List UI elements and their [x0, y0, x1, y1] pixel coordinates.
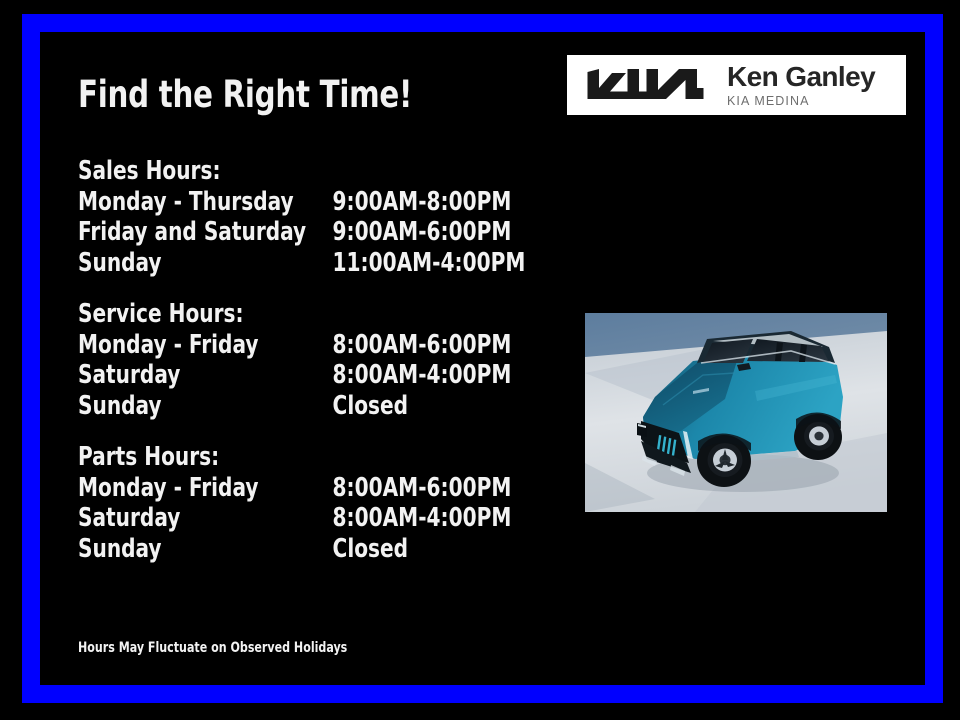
- hours-row: Monday - Friday 8:00AM-6:00PM: [78, 473, 482, 504]
- hours-row-time: 8:00AM-6:00PM: [333, 473, 512, 504]
- hours-row-day: Monday - Friday: [78, 330, 333, 361]
- hours-row-day: Monday - Friday: [78, 473, 333, 504]
- hours-row-time: Closed: [333, 534, 409, 565]
- holiday-disclaimer: Hours May Fluctuate on Observed Holidays: [78, 641, 347, 655]
- hours-row: Monday - Friday 8:00AM-6:00PM: [78, 330, 482, 361]
- hours-row-time: 9:00AM-8:00PM: [333, 187, 512, 218]
- hours-row: Saturday 8:00AM-4:00PM: [78, 503, 482, 534]
- kia-logo-icon: [581, 68, 705, 102]
- hours-row-day: Friday and Saturday: [78, 217, 333, 248]
- hours-row-time: 8:00AM-4:00PM: [333, 360, 512, 391]
- hours-row-day: Saturday: [78, 360, 333, 391]
- kia-ev9-suv-photo: [585, 313, 887, 512]
- hours-section-parts: Parts Hours: Monday - Friday 8:00AM-6:00…: [78, 442, 548, 564]
- dealer-name-block: Ken Ganley KIA MEDINA: [727, 63, 875, 107]
- section-heading: Sales Hours:: [78, 156, 482, 187]
- section-heading: Service Hours:: [78, 299, 482, 330]
- hours-section-sales: Sales Hours: Monday - Thursday 9:00AM-8:…: [78, 156, 548, 278]
- hours-row-time: 11:00AM-4:00PM: [333, 248, 526, 279]
- dealer-name: Ken Ganley: [727, 63, 875, 92]
- page-title: Find the Right Time!: [78, 76, 412, 113]
- hours-row-time: 8:00AM-6:00PM: [333, 330, 512, 361]
- section-heading: Parts Hours:: [78, 442, 482, 473]
- hours-listing: Sales Hours: Monday - Thursday 9:00AM-8:…: [78, 156, 548, 564]
- hours-row-day: Sunday: [78, 248, 333, 279]
- hours-row-time: 8:00AM-4:00PM: [333, 503, 512, 534]
- dealer-subtitle: KIA MEDINA: [727, 95, 875, 108]
- hours-section-service: Service Hours: Monday - Friday 8:00AM-6:…: [78, 299, 548, 421]
- hours-row: Saturday 8:00AM-4:00PM: [78, 360, 482, 391]
- dealer-logo-banner: Ken Ganley KIA MEDINA: [567, 55, 906, 115]
- hours-row-day: Monday - Thursday: [78, 187, 333, 218]
- hours-row-day: Sunday: [78, 391, 333, 422]
- hours-row: Sunday 11:00AM-4:00PM: [78, 248, 482, 279]
- hours-row-day: Saturday: [78, 503, 333, 534]
- slide-canvas: Find the Right Time! Sales Hours: Monday…: [0, 0, 960, 720]
- hours-row: Sunday Closed: [78, 391, 482, 422]
- hours-row: Monday - Thursday 9:00AM-8:00PM: [78, 187, 482, 218]
- hours-row-time: Closed: [333, 391, 409, 422]
- hours-row-time: 9:00AM-6:00PM: [333, 217, 512, 248]
- hours-row: Friday and Saturday 9:00AM-6:00PM: [78, 217, 482, 248]
- hours-row-day: Sunday: [78, 534, 333, 565]
- hours-row: Sunday Closed: [78, 534, 482, 565]
